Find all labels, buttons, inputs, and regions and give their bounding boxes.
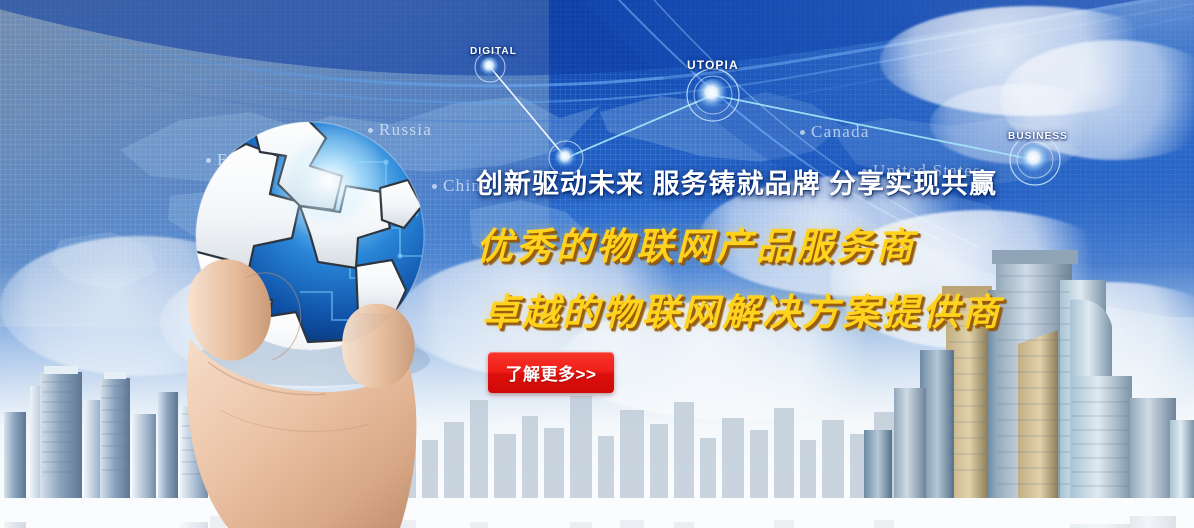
hero-tagline: 创新驱动未来 服务铸就品牌 分享实现共赢 — [476, 170, 1096, 200]
hero-banner: DIGITAL UTOPIA BUSINESS Eu Russia China … — [0, 0, 1194, 528]
learn-more-button[interactable]: 了解更多>> — [488, 352, 614, 393]
globe-in-hand-graphic — [150, 110, 470, 528]
hero-headline-1: 优秀的物联网产品服务商 — [476, 216, 1096, 270]
hero-copy: 创新驱动未来 服务铸就品牌 分享实现共赢 优秀的物联网产品服务商 卓越的物联网解… — [476, 170, 1096, 336]
hero-headline-2: 卓越的物联网解决方案提供商 — [482, 282, 1096, 336]
